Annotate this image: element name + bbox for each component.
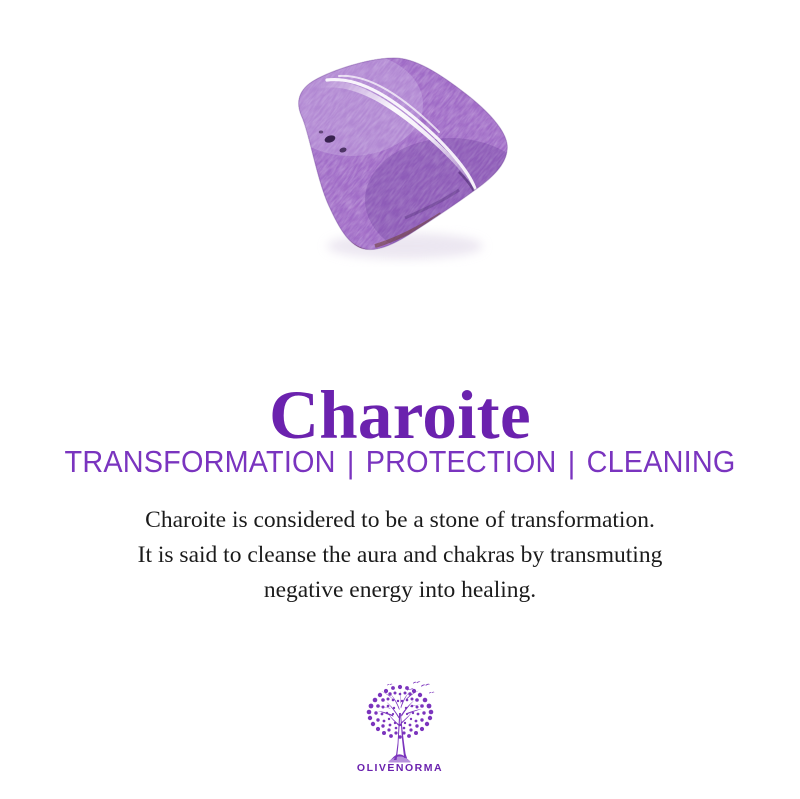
charoite-stone-image [255,32,545,268]
keyword-separator: | [347,444,355,482]
description-line: Charoite is considered to be a stone of … [0,503,800,538]
description-line: negative energy into healing. [0,573,800,608]
keyword-list: TRANSFORMATION|PROTECTION|CLEANING [28,443,772,481]
stone-info-card: Charoite TRANSFORMATION|PROTECTION|CLEAN… [0,0,800,799]
stone-description: Charoite is considered to be a stone of … [0,503,800,608]
brand-logo: OLIVENORMA [0,681,800,774]
tree-of-life-icon [357,681,443,763]
page-title: Charoite [0,379,800,451]
keyword-protection: PROTECTION [366,444,557,479]
description-line: It is said to cleanse the aura and chakr… [0,538,800,573]
keyword-separator: | [568,444,576,482]
brand-wordmark: OLIVENORMA [0,762,800,774]
keyword-transformation: TRANSFORMATION [65,444,336,479]
keyword-cleaning: CLEANING [587,444,736,479]
stone-image-container [0,0,800,300]
